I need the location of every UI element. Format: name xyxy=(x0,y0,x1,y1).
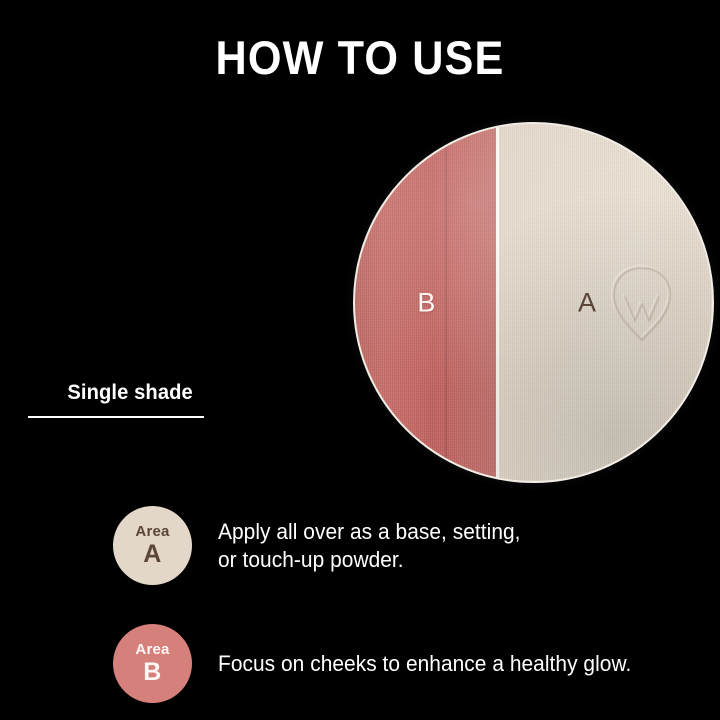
area-badge-b-word: Area xyxy=(135,642,169,657)
area-badge-b: Area B xyxy=(113,624,192,703)
pan-letter-b: B xyxy=(417,289,435,316)
w-teardrop-logo-icon xyxy=(605,263,677,343)
single-shade-block: Single shade xyxy=(28,381,278,418)
compact-disc: B A xyxy=(353,122,714,483)
usage-row-area-a: Area A Apply all over as a base, setting… xyxy=(113,506,536,585)
usage-row-area-b: Area B Focus on cheeks to enhance a heal… xyxy=(113,624,653,703)
usage-description-a: Apply all over as a base, setting, or to… xyxy=(218,518,521,573)
single-shade-underline xyxy=(28,416,204,418)
pan-seam xyxy=(445,124,447,481)
pan-divider xyxy=(496,124,499,481)
product-compact: B A xyxy=(353,122,714,483)
pan-letter-a: A xyxy=(578,289,596,316)
area-badge-a: Area A xyxy=(113,506,192,585)
page-title: HOW TO USE xyxy=(29,34,691,81)
area-badge-a-letter: A xyxy=(143,542,161,567)
usage-description-b: Focus on cheeks to enhance a healthy glo… xyxy=(218,650,631,678)
area-badge-a-word: Area xyxy=(135,524,169,539)
area-badge-b-letter: B xyxy=(143,660,161,685)
single-shade-label: Single shade xyxy=(28,381,268,404)
